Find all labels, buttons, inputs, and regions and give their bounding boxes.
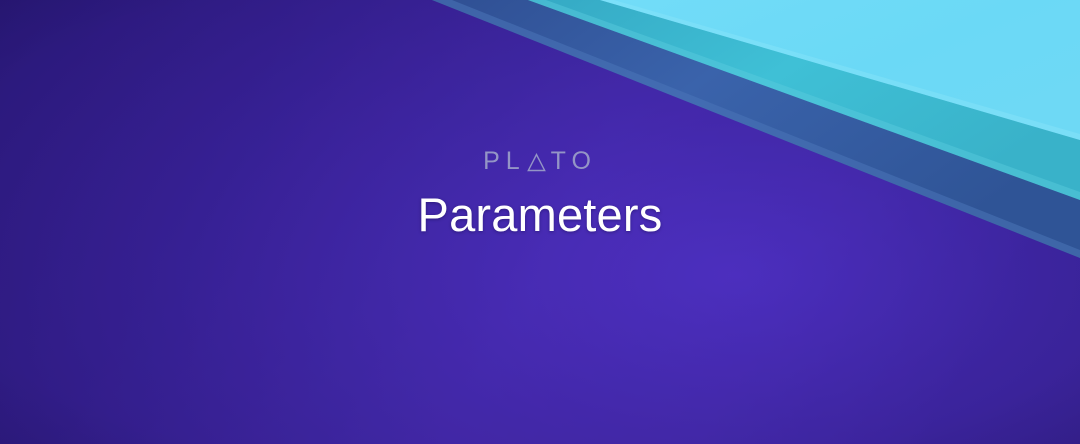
plato-logo-suffix: TO: [551, 149, 597, 174]
plato-logo: PLTO: [483, 148, 597, 174]
slide-content: PLTO Parameters: [0, 148, 1080, 241]
plato-logo-prefix: PL: [483, 149, 526, 174]
slide-canvas: PLTO Parameters: [0, 0, 1080, 444]
page-title: Parameters: [0, 190, 1080, 241]
triangle-a-icon: [527, 153, 546, 172]
